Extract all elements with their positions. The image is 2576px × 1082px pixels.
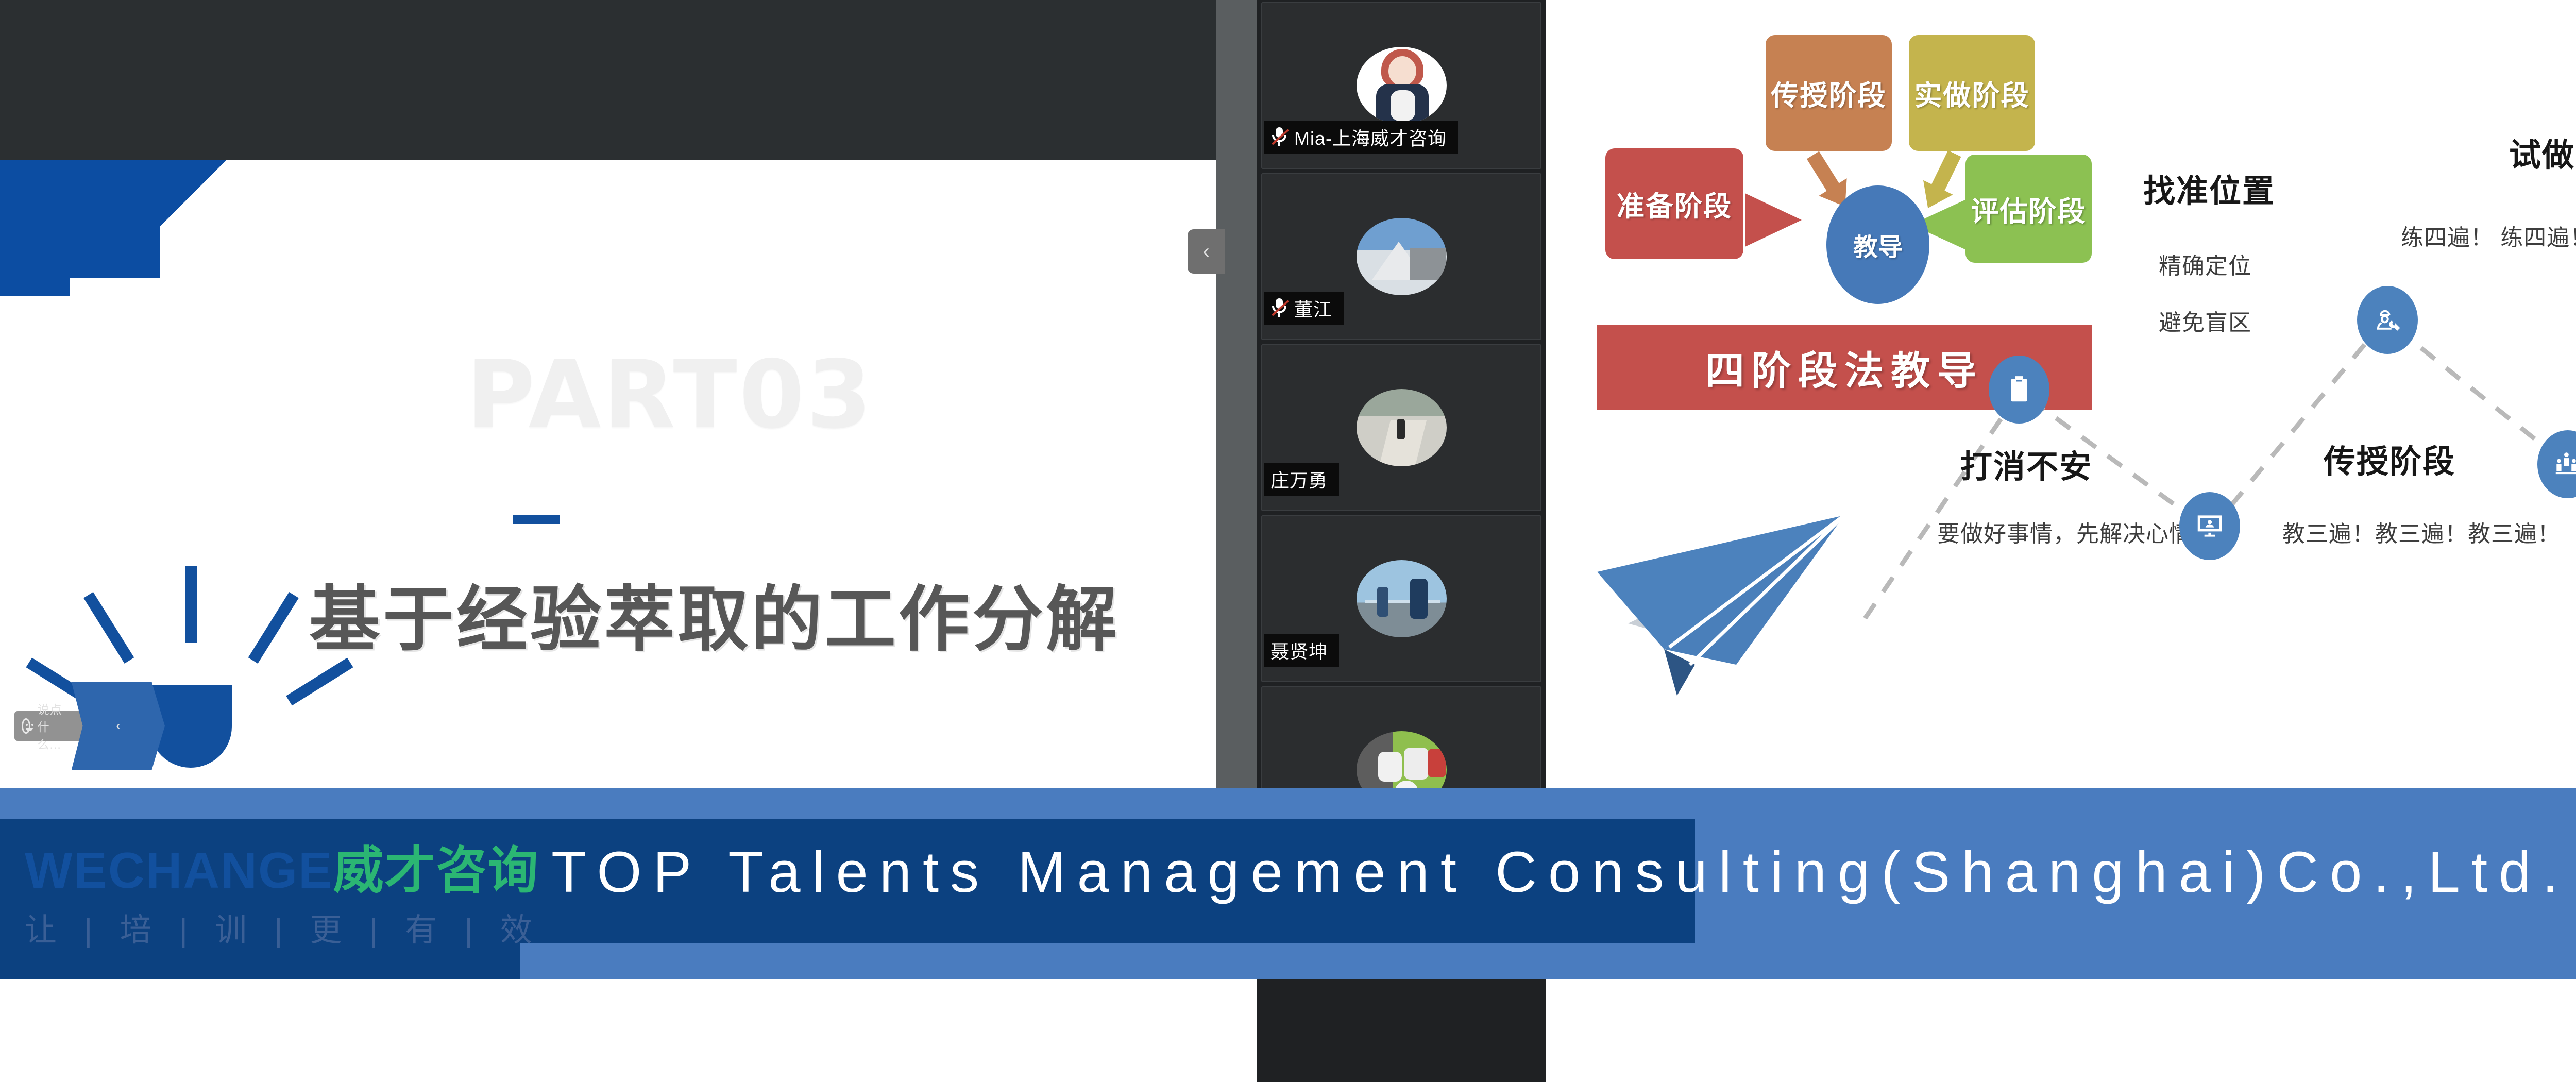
- slide-dark-band: [0, 0, 1257, 160]
- journey-node-clipboard: [1989, 356, 2049, 424]
- bottom-banner: 评价 行动 反馈 辅导 训练 支持 执行思路 WECHANGE威才咨询 让 | …: [0, 788, 2576, 979]
- participant-nameplate: Mia-上海威才咨询: [1264, 121, 1458, 154]
- share-collapse-button[interactable]: ‹: [1188, 229, 1225, 274]
- slide-rule: [513, 515, 560, 524]
- paper-plane-icon: [1566, 495, 1855, 711]
- chevron-left-icon[interactable]: ‹: [72, 682, 165, 770]
- main-slide: 准备阶段 传授阶段 实做阶段 评估阶段 教导 四阶段法教导: [1546, 0, 2576, 788]
- clipboard-icon: [2003, 374, 2035, 405]
- journey-diagram: 打消不安 要做好事情，先解决心情 找准位置 精确定位 避免盲区 传授阶段 教三遍…: [1546, 0, 2576, 788]
- company-logo: WECHANGE威才咨询 让 | 培 | 训 | 更 | 有 | 效: [25, 845, 541, 950]
- smiley-icon[interactable]: [22, 718, 30, 734]
- stage-line: 练四遍！ 练四遍！ 练四遍！: [2401, 219, 2576, 252]
- slide-blue-foot: [0, 278, 70, 296]
- participant-name: Mia-上海威才咨询: [1294, 124, 1447, 150]
- participant-tile[interactable]: 聂贤坤: [1261, 515, 1541, 682]
- journey-node-monitor: [2179, 492, 2240, 560]
- mic-off-icon: [1270, 127, 1288, 147]
- journey-node-worker: [2357, 286, 2418, 354]
- stage-title: 找准位置: [2143, 165, 2275, 211]
- slide-title: 基于经验萃取的工作分解: [309, 562, 1120, 665]
- slide-part-label: PART03: [466, 340, 874, 449]
- logo-cn: 威才咨询: [333, 842, 539, 899]
- participant-tile[interactable]: Mia-上海威才咨询: [1261, 2, 1541, 169]
- participant-nameplate: 董江: [1264, 292, 1344, 325]
- stage-line: 精确定位: [2159, 247, 2251, 280]
- participant-name: 董江: [1294, 295, 1332, 322]
- worker-wrench-icon: [2371, 304, 2403, 336]
- avatar: [1357, 218, 1447, 295]
- stage-title: 打消不安: [1960, 441, 2092, 487]
- chat-composer-small[interactable]: 说点什么... ‹: [14, 711, 155, 741]
- stage-line: 教三遍！教三遍！教三遍！: [2282, 515, 2561, 548]
- participant-tile[interactable]: 董江: [1261, 173, 1541, 340]
- slide-blue-shape: [0, 160, 160, 278]
- meeting-icon: [2552, 448, 2576, 480]
- mic-off-icon: [1270, 298, 1288, 318]
- stage-line: 避免盲区: [2159, 304, 2251, 337]
- stage-title: 试做阶段: [2509, 129, 2576, 175]
- banner-text: TOP Talents Management Consulting(Shangh…: [551, 839, 2576, 905]
- logo-tagline: 让 | 培 | 训 | 更 | 有 | 效: [25, 904, 541, 950]
- share-divider: [1216, 0, 1257, 788]
- monitor-user-icon: [2194, 510, 2226, 542]
- avatar: [1357, 560, 1447, 637]
- participant-tile[interactable]: 庄万勇: [1261, 344, 1541, 511]
- participant-nameplate: 聂贤坤: [1264, 634, 1339, 667]
- screen: PART03 基于经验萃取的工作分解 说点什么... ‹ 说点什么... ‹: [0, 0, 2576, 1082]
- avatar: [1357, 47, 1447, 124]
- participant-nameplate: 庄万勇: [1264, 463, 1339, 496]
- stage-title: 传授阶段: [2324, 435, 2455, 482]
- participant-name: 庄万勇: [1270, 466, 1328, 493]
- logo-en: WECHANGE: [25, 842, 333, 899]
- chat-placeholder: 说点什么...: [38, 700, 64, 752]
- participant-name: 聂贤坤: [1270, 637, 1328, 664]
- avatar: [1357, 389, 1447, 466]
- screen-share-pane: PART03 基于经验萃取的工作分解 说点什么... ‹ 说点什么... ‹: [0, 0, 1257, 788]
- stage-line: 要做好事情，先解决心情: [1937, 515, 2192, 548]
